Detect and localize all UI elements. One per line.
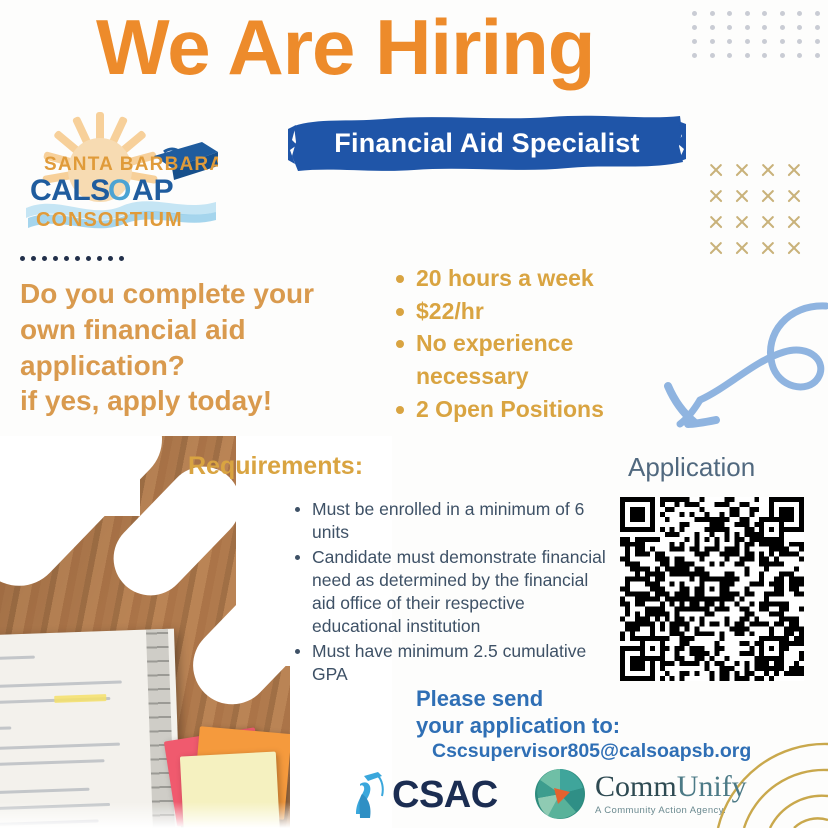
headline-line-4: if yes, apply today! — [20, 383, 380, 419]
job-title-text: Financial Aid Specialist — [288, 112, 686, 174]
svg-text:SANTA BARBARA: SANTA BARBARA — [44, 154, 218, 175]
headline-line-3: application? — [20, 348, 380, 384]
perk-item: 2 Open Positions — [392, 393, 660, 426]
send-application-label: Please send your application to: — [416, 686, 620, 740]
send-line-2: your application to: — [416, 713, 620, 740]
perks-list: 20 hours a week$22/hrNo experience neces… — [392, 262, 660, 425]
svg-text:CONSORTIUM: CONSORTIUM — [36, 209, 183, 231]
calsoap-logo-graphic: SANTA BARBARA CALS O AP CONSORTIUM — [22, 108, 218, 238]
communify-logo: CommUnify A Community Action Agency. — [534, 768, 747, 820]
requirements-list: Must be enrolled in a minimum of 6 units… — [292, 498, 614, 687]
requirements-heading: Requirements: — [188, 452, 363, 481]
curly-arrow-icon — [638, 282, 828, 460]
x-pattern-decoration — [703, 157, 807, 261]
csac-graduate-icon — [352, 770, 386, 820]
application-label: Application — [628, 452, 755, 483]
calsoap-logo: SANTA BARBARA CALS O AP CONSORTIUM — [22, 108, 218, 238]
hiring-flyer: We Are Hiring Financial Aid Specialist — [0, 0, 828, 828]
perk-item: No experience necessary — [392, 327, 660, 392]
dotted-rule-decoration — [20, 256, 124, 261]
svg-text:CALS: CALS — [30, 174, 110, 207]
requirement-item: Candidate must demonstrate financial nee… — [292, 546, 614, 639]
contact-email[interactable]: Cscsupervisor805@calsoapsb.org — [432, 740, 751, 763]
headline-line-2: own financial aid — [20, 312, 380, 348]
headline-line-1: Do you complete your — [20, 276, 380, 312]
perk-item: $22/hr — [392, 295, 660, 328]
photo-fade-bottom — [0, 802, 392, 828]
requirement-item: Must be enrolled in a minimum of 6 units — [292, 498, 614, 545]
qr-canvas — [620, 497, 804, 681]
perk-item: 20 hours a week — [392, 262, 660, 295]
csac-wordmark: CSAC — [392, 776, 498, 814]
communify-tagline: A Community Action Agency. — [595, 806, 747, 816]
send-line-1: Please send — [416, 686, 620, 713]
csac-logo: CSAC — [352, 770, 498, 820]
application-qr-code[interactable] — [620, 497, 804, 681]
headline-block: Do you complete your own financial aid a… — [20, 276, 380, 419]
requirement-item: Must have minimum 2.5 cumulative GPA — [292, 640, 614, 687]
svg-text:O: O — [108, 174, 131, 207]
svg-text:AP: AP — [132, 174, 174, 207]
communify-globe-icon — [534, 768, 586, 820]
dot-grid-decoration — [686, 6, 826, 62]
communify-wordmark: CommUnify — [595, 772, 747, 802]
job-title-banner: Financial Aid Specialist — [288, 112, 686, 174]
page-title: We Are Hiring — [96, 8, 594, 86]
